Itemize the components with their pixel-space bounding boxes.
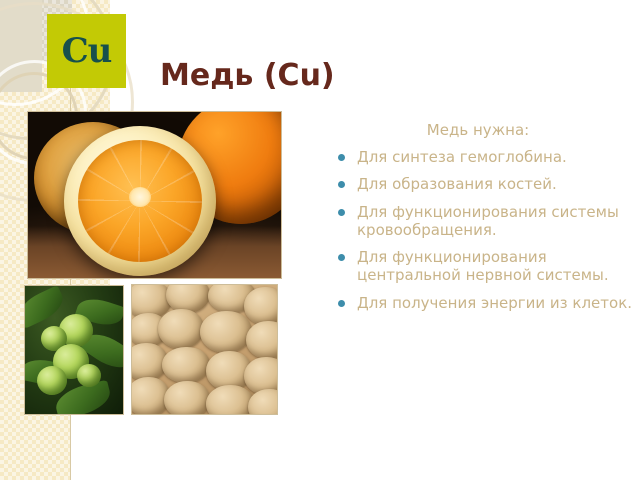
- potato-shape: [200, 311, 252, 353]
- list-item-label: Для функционирования системы кровообраще…: [357, 203, 619, 239]
- potato-shape: [244, 287, 278, 325]
- bullet-dot-icon: [338, 154, 345, 161]
- body-heading: Медь нужна:: [333, 121, 623, 139]
- corner-block-secondary-decoration: [0, 0, 42, 92]
- orange-flesh-shape: [78, 140, 202, 262]
- bullet-dot-icon: [338, 300, 345, 307]
- list-item-label: Для синтеза гемоглобина.: [357, 148, 567, 166]
- list-item: Для образования костей.: [333, 175, 633, 193]
- green-apples-photo: [24, 285, 124, 415]
- element-symbol-text: Cu: [62, 34, 112, 68]
- apple-shape: [37, 366, 67, 395]
- bullet-dot-icon: [338, 181, 345, 188]
- list-item: Для функционирования системы кровообраще…: [333, 203, 633, 240]
- bullet-dot-icon: [338, 254, 345, 261]
- orange-slice-photo: [27, 111, 282, 279]
- potato-shape: [158, 309, 204, 349]
- potato-shape: [162, 347, 210, 383]
- potatoes-photo: [131, 284, 278, 415]
- potato-shape: [164, 381, 210, 415]
- benefits-list: Для синтеза гемоглобина. Для образования…: [333, 148, 633, 321]
- list-item: Для получения энергии из клеток.: [333, 294, 633, 312]
- element-symbol-badge: Cu: [47, 14, 126, 88]
- slide-title: Медь (Cu): [160, 58, 335, 93]
- list-item-label: Для функционирования центральной нервной…: [357, 248, 609, 284]
- list-item-label: Для образования костей.: [357, 175, 557, 193]
- slide-canvas: Cu Медь (Cu): [0, 0, 640, 480]
- apple-shape: [77, 364, 101, 387]
- list-item: Для синтеза гемоглобина.: [333, 148, 633, 166]
- orange-slice-shape: [64, 126, 216, 276]
- potato-shape: [206, 385, 254, 415]
- orange-core-shape: [129, 187, 151, 207]
- list-item-label: Для получения энергии из клеток.: [357, 294, 632, 312]
- list-item: Для функционирования центральной нервной…: [333, 248, 633, 285]
- bullet-dot-icon: [338, 209, 345, 216]
